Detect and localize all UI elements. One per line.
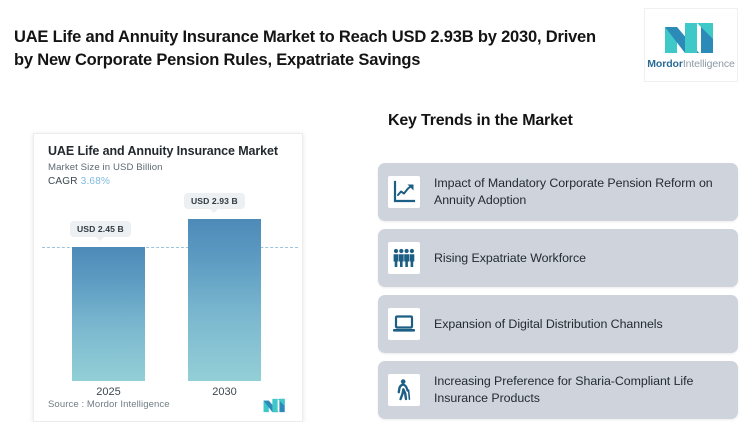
bar-2025: [72, 247, 145, 381]
trend-card-label: Increasing Preference for Sharia-Complia…: [434, 373, 728, 406]
trend-card-pension-reform[interactable]: Impact of Mandatory Corporate Pension Re…: [378, 163, 738, 221]
elderly-person-cane-icon-glyph: [392, 378, 416, 402]
data-label-2025: USD 2.45 B: [70, 221, 131, 237]
x-axis-label-2025: 2025: [72, 386, 145, 398]
trend-card-label: Expansion of Digital Distribution Channe…: [434, 316, 663, 333]
chart-source: Source : Mordor Intelligence: [48, 399, 170, 410]
mordor-logo-mark: [663, 21, 719, 55]
elderly-person-cane-icon: [388, 374, 420, 406]
trend-card-label: Rising Expatriate Workforce: [434, 250, 586, 267]
people-group-icon-glyph: [392, 246, 416, 270]
bar-chart-plot: USD 2.45 B USD 2.93 B 2025 2030: [34, 196, 303, 381]
x-axis-label-2030: 2030: [188, 386, 261, 398]
growth-chart-icon: [388, 176, 420, 208]
laptop-icon: [388, 308, 420, 340]
trend-card-label: Impact of Mandatory Corporate Pension Re…: [434, 175, 728, 208]
people-group-icon: [388, 242, 420, 274]
laptop-icon-glyph: [392, 312, 416, 336]
market-size-chart-card: UAE Life and Annuity Insurance Market Ma…: [33, 133, 303, 422]
chart-title: UAE Life and Annuity Insurance Market: [48, 144, 278, 158]
cagr-label: CAGR: [48, 176, 78, 187]
key-trends-title: Key Trends in the Market: [388, 112, 573, 130]
chart-subtitle: Market Size in USD Billion: [48, 162, 163, 173]
mordor-logo-mark-small: [262, 398, 288, 413]
mordor-intelligence-logo: MordorIntelligence: [644, 8, 738, 82]
chart-cagr: CAGR 3.68%: [48, 176, 110, 187]
logo-word-secondary: Intelligence: [683, 58, 735, 70]
infographic-page: UAE Life and Annuity Insurance Market to…: [0, 0, 750, 422]
growth-chart-icon-glyph: [392, 180, 416, 204]
cagr-value: 3.68%: [81, 176, 110, 187]
key-trends-list: Impact of Mandatory Corporate Pension Re…: [378, 163, 738, 422]
bar-2030: [188, 219, 261, 381]
mordor-logo-wordmark: MordorIntelligence: [647, 58, 734, 70]
page-title: UAE Life and Annuity Insurance Market to…: [14, 26, 614, 73]
data-label-2030: USD 2.93 B: [184, 193, 245, 209]
trend-card-digital-distribution[interactable]: Expansion of Digital Distribution Channe…: [378, 295, 738, 353]
trend-card-sharia-compliant[interactable]: Increasing Preference for Sharia-Complia…: [378, 361, 738, 419]
logo-word-primary: Mordor: [647, 58, 683, 70]
trend-card-expatriate-workforce[interactable]: Rising Expatriate Workforce: [378, 229, 738, 287]
